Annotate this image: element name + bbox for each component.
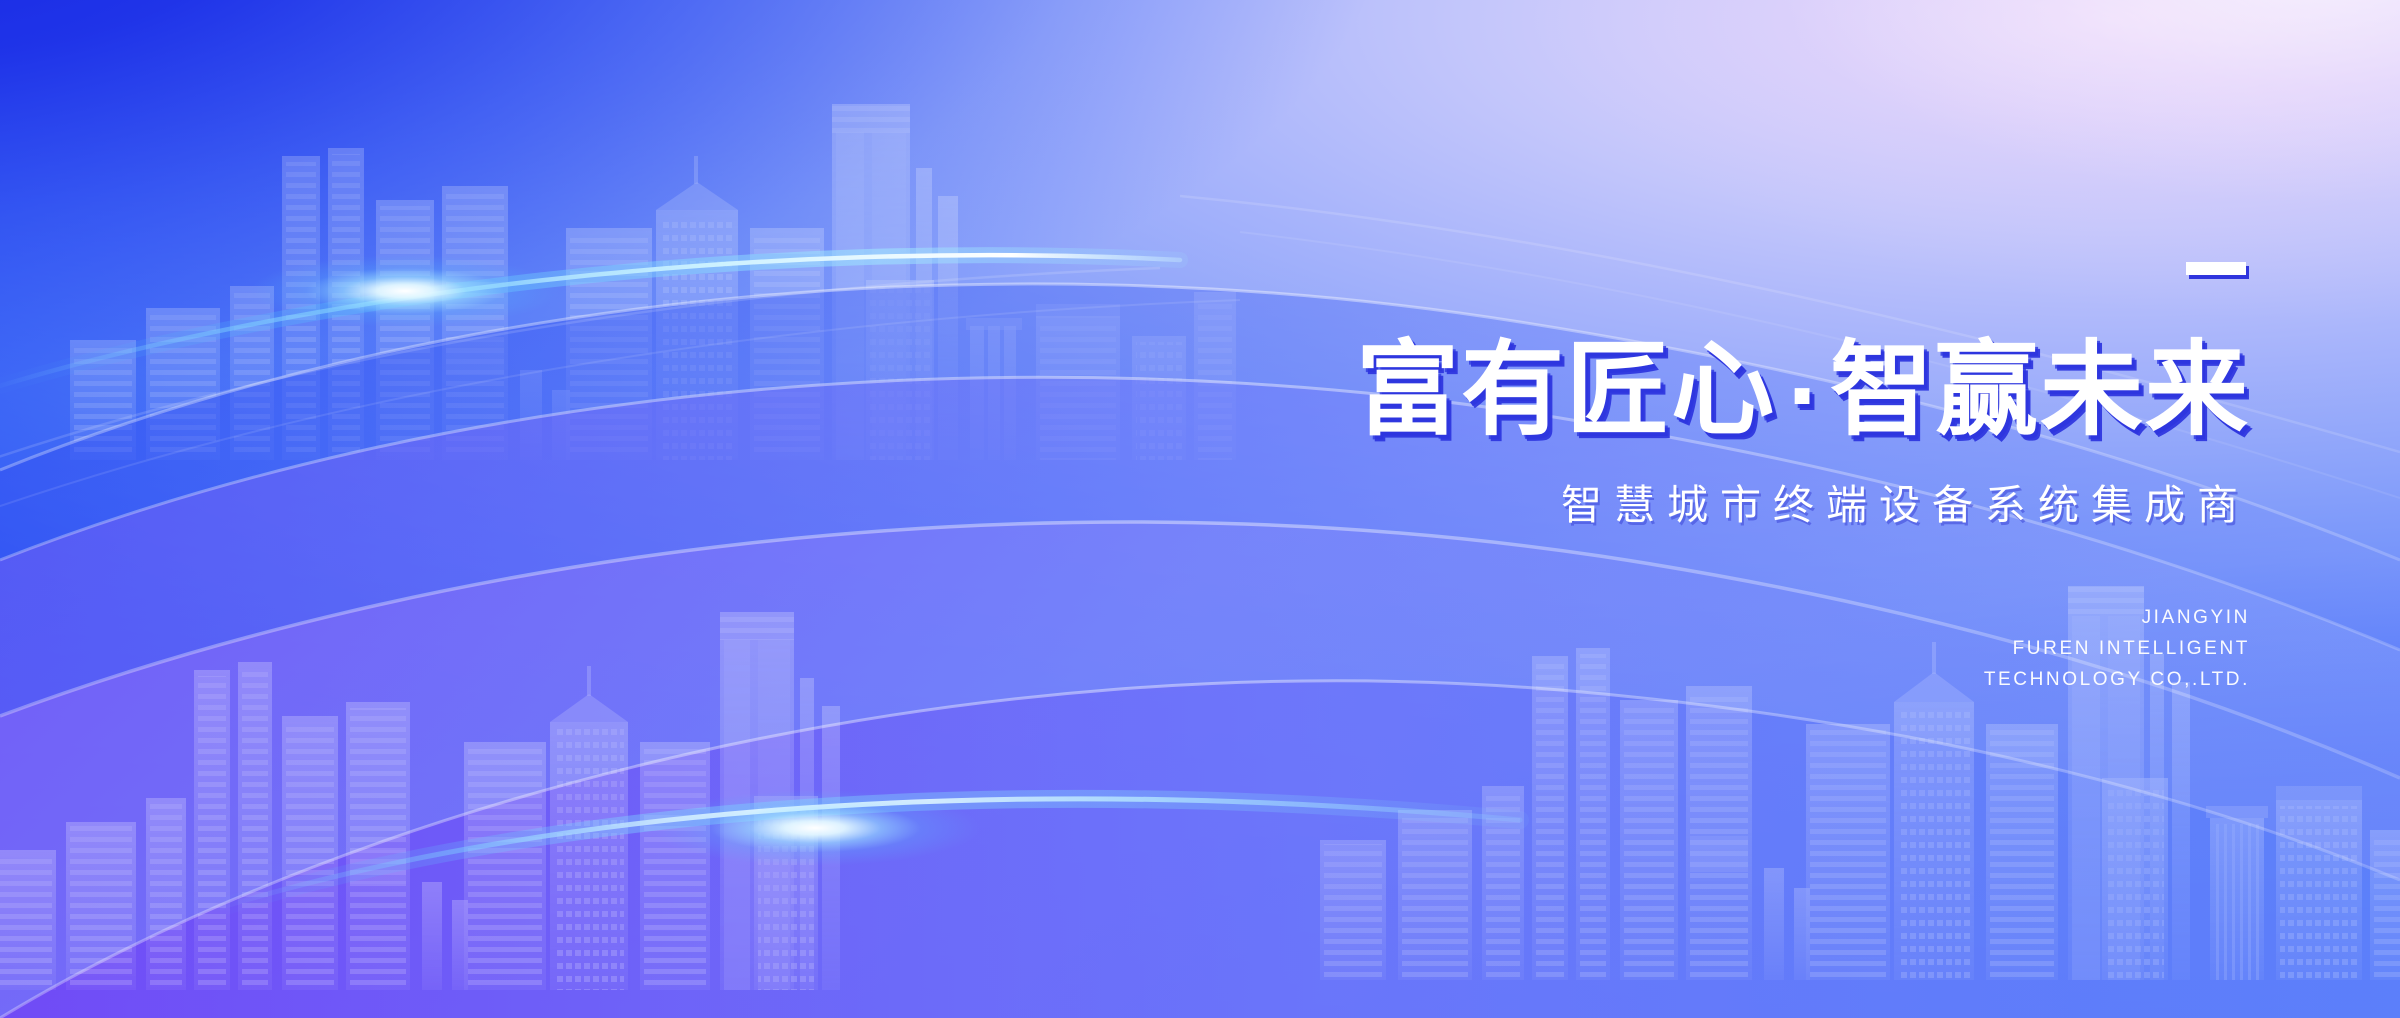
accent-dash-icon: [2186, 262, 2246, 275]
headline-part-two: 智赢未来: [1830, 330, 2250, 450]
page-title: 富有匠心·智赢未来: [1130, 336, 2250, 445]
page-subtitle: 智慧城市终端设备系统集成商: [1130, 471, 2250, 531]
headline-part-one: 富有匠心: [1356, 330, 1776, 450]
banner-canvas: 富有匠心·智赢未来 智慧城市终端设备系统集成商 JIANGYIN FUREN I…: [0, 0, 2400, 1018]
headline-separator-icon: ·: [1776, 347, 1830, 445]
company-line-1: JIANGYIN: [1130, 603, 2250, 634]
headline-text-block: 富有匠心·智赢未来 智慧城市终端设备系统集成商 JIANGYIN FUREN I…: [1130, 262, 2250, 695]
company-line-2: FUREN INTELLIGENT: [1130, 634, 2250, 665]
company-name-block: JIANGYIN FUREN INTELLIGENT TECHNOLOGY CO…: [1130, 603, 2250, 695]
company-line-3: TECHNOLOGY CO,.LTD.: [1130, 665, 2250, 696]
